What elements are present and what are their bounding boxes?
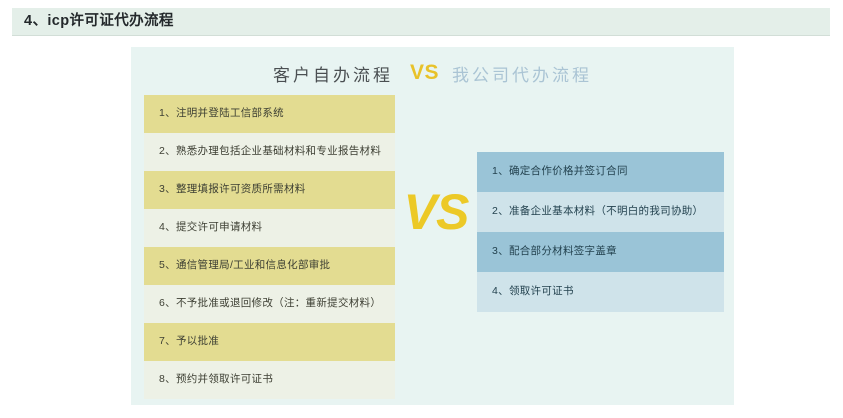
heading-left-label: 客户自办流程 (273, 61, 393, 86)
right-flow-step: 1、确定合作价格并签订合同 (477, 152, 724, 192)
center-vs-label: VS (393, 187, 479, 237)
left-flow-step: 3、整理填报许可资质所需材料 (144, 171, 395, 209)
right-flow-step: 2、准备企业基本材料（不明白的我司协助） (477, 192, 724, 232)
page-title: 4、icp许可证代办流程 (24, 14, 174, 29)
left-flow-step: 4、提交许可申请材料 (144, 209, 395, 247)
page-root: 4、icp许可证代办流程 客户自办流程 VS 我公司代办流程 1、注明并登陆工信… (0, 0, 843, 418)
panel-heading-row: 客户自办流程 VS 我公司代办流程 (131, 56, 734, 90)
left-flow-step: 5、通信管理局/工业和信息化部审批 (144, 247, 395, 285)
left-flow-step: 8、预约并领取许可证书 (144, 361, 395, 399)
heading-vs-label: VS (410, 61, 439, 85)
left-flow-step: 1、注明并登陆工信部系统 (144, 95, 395, 133)
right-flow-step: 3、配合部分材料签字盖章 (477, 232, 724, 272)
left-flow-step: 6、不予批准或退回修改（注：重新提交材料） (144, 285, 395, 323)
left-flow-step: 7、予以批准 (144, 323, 395, 361)
left-flow-step: 2、熟悉办理包括企业基础材料和专业报告材料 (144, 133, 395, 171)
comparison-panel: 客户自办流程 VS 我公司代办流程 1、注明并登陆工信部系统 2、熟悉办理包括企… (131, 47, 734, 405)
heading-right-label: 我公司代办流程 (452, 61, 592, 86)
right-flow-step: 4、领取许可证书 (477, 272, 724, 312)
left-flow-column: 1、注明并登陆工信部系统 2、熟悉办理包括企业基础材料和专业报告材料 3、整理填… (144, 95, 395, 399)
section-title-bar: 4、icp许可证代办流程 (12, 8, 830, 36)
right-flow-column: 1、确定合作价格并签订合同 2、准备企业基本材料（不明白的我司协助） 3、配合部… (477, 152, 724, 312)
